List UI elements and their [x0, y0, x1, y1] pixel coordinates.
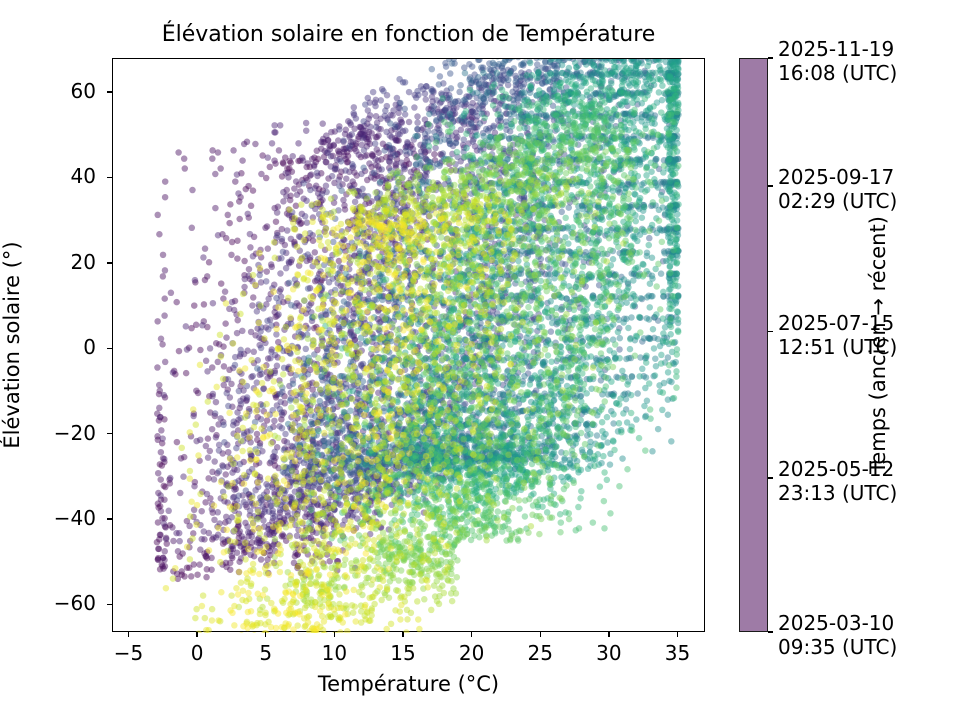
y-tick-mark — [107, 177, 112, 178]
x-tick-label: 20 — [437, 641, 507, 665]
x-tick-mark — [265, 632, 266, 637]
x-tick-label: 35 — [643, 641, 713, 665]
x-tick-mark — [471, 632, 472, 637]
x-axis-label: Température (°C) — [112, 672, 705, 696]
colorbar-tick-mark — [768, 477, 773, 478]
colorbar-tick-mark — [768, 331, 773, 332]
y-tick-label: −20 — [54, 421, 96, 445]
y-axis-label: Élévation solaire (°) — [0, 58, 30, 632]
y-tick-mark — [107, 348, 112, 349]
colorbar-tick-mark — [768, 631, 773, 632]
figure-canvas: Élévation solaire en fonction de Tempéra… — [0, 0, 960, 720]
scatter-plot — [113, 59, 706, 633]
x-tick-label: −5 — [93, 641, 163, 665]
colorbar-tick-mark — [768, 57, 773, 58]
x-tick-mark — [128, 632, 129, 637]
x-tick-label: 15 — [368, 641, 438, 665]
y-tick-label: 60 — [71, 79, 96, 103]
x-tick-mark — [608, 632, 609, 637]
y-tick-mark — [107, 604, 112, 605]
y-tick-label: 0 — [83, 335, 96, 359]
x-tick-mark — [677, 632, 678, 637]
x-tick-mark — [540, 632, 541, 637]
x-tick-mark — [334, 632, 335, 637]
x-tick-label: 0 — [162, 641, 232, 665]
y-tick-label: 40 — [71, 164, 96, 188]
x-tick-label: 10 — [299, 641, 369, 665]
x-tick-mark — [196, 632, 197, 637]
y-tick-mark — [107, 433, 112, 434]
plot-area — [112, 58, 705, 632]
x-tick-label: 5 — [231, 641, 301, 665]
x-tick-label: 25 — [505, 641, 575, 665]
colorbar-label: Temps (ancien → récent) — [866, 58, 894, 632]
colorbar — [739, 58, 768, 632]
y-tick-label: −40 — [54, 506, 96, 530]
colorbar-gradient — [740, 59, 767, 631]
y-tick-label: 20 — [71, 250, 96, 274]
y-tick-mark — [107, 262, 112, 263]
colorbar-tick-time: 09:35 (UTC) — [778, 635, 897, 659]
x-tick-label: 30 — [574, 641, 644, 665]
page-title: Élévation solaire en fonction de Tempéra… — [112, 22, 705, 47]
y-tick-mark — [107, 518, 112, 519]
y-tick-mark — [107, 91, 112, 92]
colorbar-tick-mark — [768, 185, 773, 186]
y-tick-label: −60 — [54, 591, 96, 615]
x-tick-mark — [402, 632, 403, 637]
